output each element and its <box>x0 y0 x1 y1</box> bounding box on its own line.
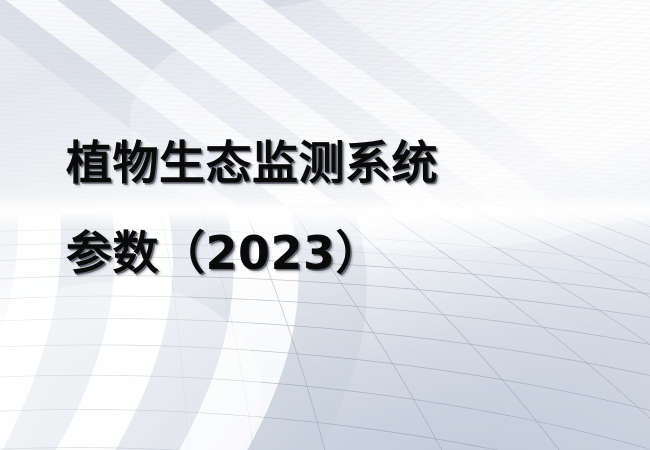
slide-title: 植物生态监测系统 参数（2023） <box>66 118 626 298</box>
title-line-1: 植物生态监测系统 <box>66 118 626 208</box>
title-slide: 植物生态监测系统 参数（2023） <box>0 0 650 450</box>
title-line-2: 参数（2023） <box>66 208 626 298</box>
